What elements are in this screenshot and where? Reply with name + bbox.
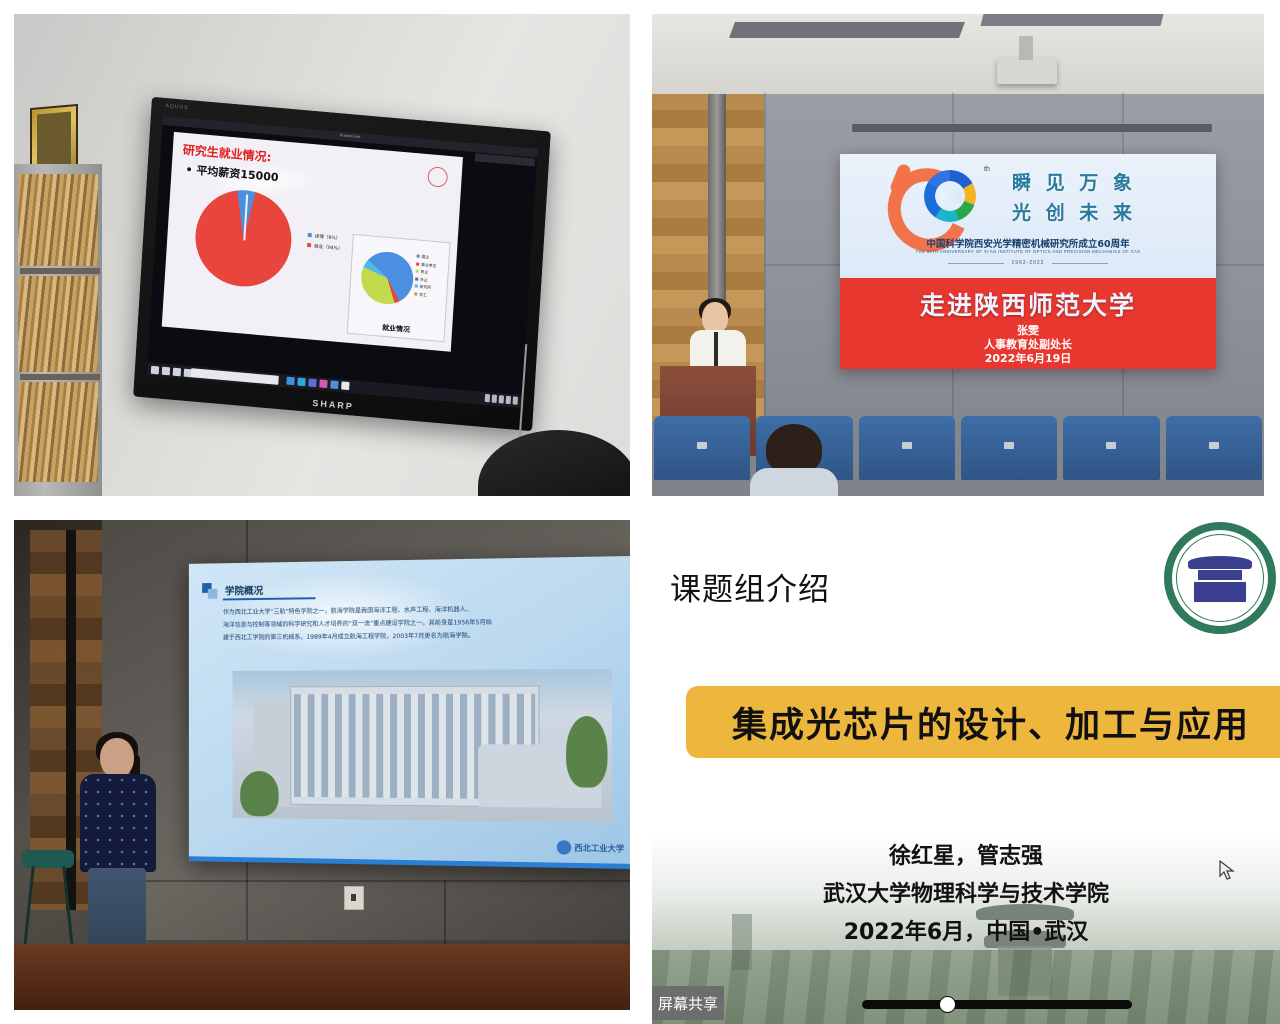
pie-chart-sub-container: 国企 事业单位 民企 外企 研究所 军工 就业情况 — [347, 234, 451, 342]
taskbar-app-icon[interactable] — [319, 379, 327, 388]
wuhan-university-logo — [1164, 522, 1276, 634]
pie-chart-sub-caption: 就业情况 — [348, 320, 444, 338]
auditorium-seat — [961, 416, 1057, 480]
legend-label: 军工 — [419, 292, 427, 298]
auditorium-seat — [1063, 416, 1159, 480]
logo-mark-icon — [557, 840, 571, 854]
auditorium-seat — [859, 416, 955, 480]
cortana-icon[interactable] — [173, 368, 181, 377]
network-icon[interactable] — [499, 395, 504, 403]
anniversary-60-logo: th — [888, 164, 980, 230]
presentation-slide: 研究生就业情况: • 平均薪资15000 读博（6%） 就业（94%） 国企 事… — [162, 132, 463, 352]
square-bullet-icon — [202, 583, 217, 599]
audience-member — [748, 424, 840, 496]
slide-main-title: 走进陕西师范大学 — [840, 286, 1216, 322]
presenter-head — [100, 738, 134, 778]
university-seal-icon — [427, 166, 448, 188]
legend-label: 事业单位 — [421, 261, 436, 267]
wall-seam — [102, 880, 630, 882]
taskbar-app-icon[interactable] — [308, 379, 316, 388]
wall-socket — [344, 886, 364, 910]
projection-screen-roller — [852, 124, 1212, 132]
video-progress-bar[interactable] — [862, 1000, 1132, 1009]
legend-label: 民企 — [421, 269, 429, 275]
legend-label: 外企 — [420, 277, 428, 283]
slide-date: 2022年6月19日 — [840, 350, 1216, 366]
logo-text: 西北工业大学 — [574, 842, 624, 854]
slide-body-text: 作为西北工业大学“三航”特色学院之一，航海学院是我国海洋工程、水声工程、海洋机器… — [223, 601, 622, 644]
pie-chart-main-legend: 读博（6%） 就业（94%） — [307, 232, 344, 255]
legend-label: 研究所 — [420, 284, 432, 290]
search-icon[interactable] — [162, 367, 170, 376]
logo-superscript: th — [984, 166, 990, 173]
taskbar-app-icon[interactable] — [341, 381, 349, 390]
logo-gate-building-icon — [1192, 556, 1248, 602]
slide-affiliation: 武汉大学物理科学与技术学院 — [652, 876, 1280, 908]
legend-label: 读博（6%） — [314, 235, 340, 242]
slide-date-place: 2022年6月，中国•武汉 — [652, 914, 1280, 946]
banner-title-text: 集成光芯片的设计、加工与应用 — [686, 686, 1280, 758]
wall-seam — [444, 880, 446, 944]
screenshare-panel-bottom-right: 课题组介绍 集成光芯片的设计、加工与应用 徐红星，管志强 武汉大学物理科学与技术… — [652, 520, 1280, 1024]
campus-trees — [652, 950, 1280, 1024]
photo-panel-top-right: th 瞬 见 万 象 光 创 未 来 中国科学院西安光学精密机械研究所成立60周… — [652, 14, 1264, 496]
taskbar-app-icon[interactable] — [286, 377, 294, 386]
volume-icon[interactable] — [506, 396, 511, 404]
projected-slide: th 瞬 见 万 象 光 创 未 来 中国科学院西安光学精密机械研究所成立60周… — [840, 154, 1216, 369]
tree — [566, 716, 607, 788]
anniversary-years: 1962-2022 — [840, 260, 1216, 266]
taskbar-app-icon[interactable] — [297, 378, 305, 387]
progress-knob[interactable] — [940, 997, 955, 1012]
projection-screen: 学院概况 作为西北工业大学“三航”特色学院之一，航海学院是我国海洋工程、水声工程… — [189, 556, 630, 869]
legend-label: 国企 — [421, 254, 429, 260]
tray-icon[interactable] — [492, 395, 497, 403]
system-tray[interactable] — [485, 394, 518, 405]
ceiling-slot — [729, 22, 965, 38]
ceiling-slot — [981, 14, 1164, 26]
auditorium-seat — [1166, 416, 1262, 480]
slide-body-line: 建于西北工学院的第三机械系，1989年4月成立航海工程学院，2003年7月更名为… — [223, 628, 622, 645]
slide-slogan-line-2: 光 创 未 来 — [1012, 198, 1136, 225]
ceiling-projector — [997, 58, 1057, 84]
audience-seating — [652, 408, 1264, 496]
slide-slogan-line-1: 瞬 见 万 象 — [1012, 168, 1136, 195]
slide-authors: 徐红星，管志强 — [652, 838, 1280, 870]
institute-name-en: THE 60TH ANNIVERSARY OF XI'AN INSTITUTE … — [840, 249, 1216, 254]
start-button-icon[interactable] — [151, 366, 159, 375]
pie-chart-main — [193, 186, 295, 290]
tree — [240, 771, 278, 817]
pie-chart-sub — [360, 250, 415, 306]
presenter-shirt — [80, 774, 156, 872]
screen-share-label: 屏幕共享 — [652, 986, 724, 1020]
clock-icon[interactable] — [513, 396, 518, 404]
photo-collage: AQUOS SHARP PowerPoint 研究生就业情况: • 平均薪资15… — [0, 0, 1280, 1024]
stage-floor — [14, 944, 630, 1010]
wall-seam — [764, 92, 766, 422]
photo-panel-top-left: AQUOS SHARP PowerPoint 研究生就业情况: • 平均薪资15… — [14, 14, 630, 496]
tv-screen: PowerPoint 研究生就业情况: • 平均薪资15000 读博（6%） 就… — [147, 116, 538, 408]
slide-section-heading: 学院概况 — [225, 582, 263, 597]
university-watermark-logo: 西北工业大学 — [557, 840, 624, 855]
document-cabinet — [14, 164, 102, 496]
tray-icon[interactable] — [485, 394, 490, 402]
slide-kicker-title: 课题组介绍 — [670, 564, 830, 609]
legend-label: 就业（94%） — [314, 245, 343, 252]
auditorium-seat — [654, 416, 750, 480]
wall-mounted-tv: AQUOS SHARP PowerPoint 研究生就业情况: • 平均薪资15… — [133, 97, 550, 431]
institute-name-cn: 中国科学院西安光学精密机械研究所成立60周年 — [840, 236, 1216, 250]
logo-zero-notch — [940, 188, 962, 204]
pie-chart-sub-legend: 国企 事业单位 民企 外企 研究所 军工 — [414, 252, 437, 299]
slide-building-photo — [233, 669, 612, 823]
photo-panel-bottom-left: 学院概况 作为西北工业大学“三航”特色学院之一，航海学院是我国海洋工程、水声工程… — [14, 520, 630, 1010]
taskbar-app-icon[interactable] — [330, 380, 338, 389]
